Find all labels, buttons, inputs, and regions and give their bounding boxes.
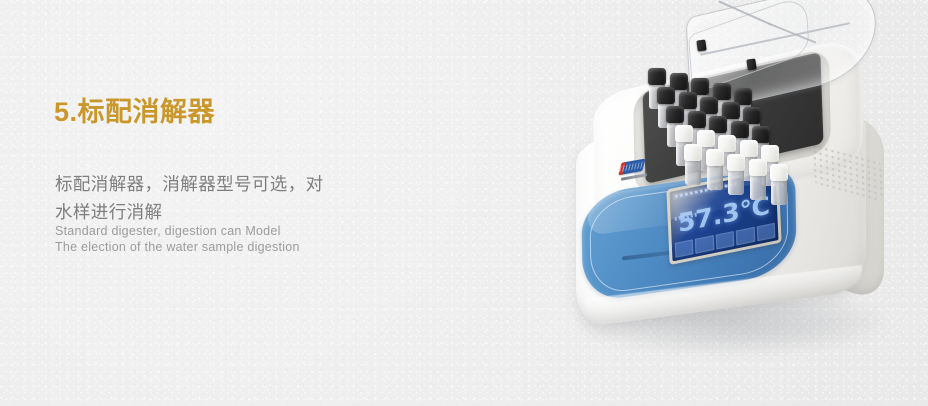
tube-cap <box>648 68 666 85</box>
page-title: 5.标配消解器 <box>54 98 215 128</box>
tube-cap <box>706 149 724 166</box>
softkey[interactable] <box>695 235 714 254</box>
logo-wordmark <box>621 173 647 181</box>
tube-glass <box>771 179 787 205</box>
softkey[interactable] <box>736 227 755 246</box>
subtitle-chinese: 标配消解器，消解器型号可选，对水样进行消解 <box>55 170 325 227</box>
lid-hinge-clip <box>746 58 756 70</box>
softkey[interactable] <box>716 231 735 250</box>
copy-block: 5.标配消解器 标配消解器，消解器型号可选，对水样进行消解 Standard d… <box>54 98 215 128</box>
subtitle-english-line2: The election of the water sample digesti… <box>55 238 300 257</box>
lid-hinge-clip <box>696 39 706 51</box>
tube-cap <box>666 106 684 123</box>
tube-cap <box>657 87 675 104</box>
tube-glass <box>707 164 723 190</box>
tube-cap <box>675 125 693 142</box>
tube-glass <box>685 159 701 185</box>
tube-cap <box>684 144 702 161</box>
tube-glass <box>750 174 766 200</box>
digester-device-image: 57.3℃ <box>540 0 928 394</box>
product-feature-banner: 5.标配消解器 标配消解器，消解器型号可选，对水样进行消解 Standard d… <box>0 0 928 406</box>
softkey[interactable] <box>675 239 694 258</box>
tube-cap <box>770 164 788 181</box>
tube-glass <box>728 169 744 195</box>
tube-cap <box>727 154 745 171</box>
softkey[interactable] <box>756 223 775 242</box>
tube-cap <box>749 159 767 176</box>
